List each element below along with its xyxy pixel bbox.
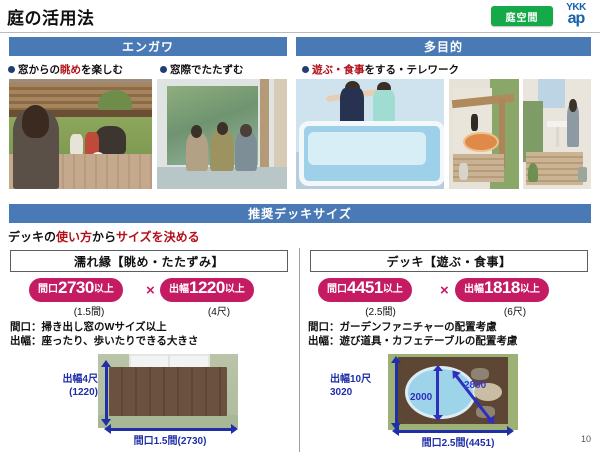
deck-section-lead: デッキの使い方からサイズを決める	[8, 228, 200, 245]
multiply-symbol-left: ×	[146, 282, 155, 299]
photo-layer-woman-hair	[22, 105, 49, 138]
lead-text-c: から	[92, 230, 116, 244]
photo-layer-table	[547, 121, 567, 128]
bullet-play-dine-telework: 遊ぶ・食事をする・テレワーク	[302, 62, 459, 77]
illustration-layer-chair-one	[471, 368, 489, 380]
pill-left-frontage-sub: (1.5間)	[29, 303, 149, 318]
photo-layer-tricycle	[95, 126, 126, 155]
dimension-label-projection-line1: 出幅4尺	[46, 374, 98, 387]
photo-layer-pot	[578, 167, 587, 182]
note-left-line1: 間口：掃き出し窓のWサイズ以上	[10, 320, 198, 334]
dimension-arrow-vertical	[395, 362, 398, 424]
bullet-linger-by-window: 窓際でたたずむ	[160, 62, 244, 77]
dimension-label-projection: 出幅10尺 3020	[330, 374, 388, 399]
bullet-text-highlight: 遊ぶ・食事	[312, 64, 365, 76]
dimension-arrow-pool	[436, 370, 439, 416]
pill-suffix: 以上	[383, 280, 403, 295]
pill-suffix: 以上	[225, 280, 245, 295]
bullet-dot-icon	[160, 66, 167, 73]
dimension-label-frontage: 間口2.5間(4451)	[398, 438, 518, 451]
illustration-layer-grass	[98, 415, 238, 428]
pill-suffix: 以上	[94, 280, 114, 295]
note-right-line1: 間口：ガーデンファニチャーの配置考慮	[308, 320, 517, 334]
section-bar-engawa: エンガワ	[9, 37, 287, 56]
pill-left-frontage: 間口2730以上	[29, 278, 123, 302]
diagram-deck: 出幅10尺 3020 間口2.5間(4451) 2000 2800	[306, 352, 591, 450]
dimension-label-projection-line2: 3020	[330, 387, 388, 400]
bullet-text-c: を楽しむ	[81, 64, 123, 76]
photo-engawa-composition	[157, 79, 287, 189]
dimension-label-projection-line2: (1220)	[46, 387, 98, 400]
section-bar-recommended-deck-size: 推奨デッキサイズ	[9, 204, 591, 223]
bullet-text-highlight: 眺め	[60, 64, 81, 76]
dimension-label-pool: 2000	[410, 392, 432, 405]
bullet-dot-icon	[8, 66, 15, 73]
photo-engawa-seating	[157, 79, 287, 189]
lead-text-highlight-size: サイズを決める	[116, 230, 200, 244]
photo-garden-composition	[9, 79, 152, 189]
note-left-line2: 出幅：座ったり、歩いたりできる大きさ	[10, 334, 198, 348]
column-divider	[299, 248, 300, 452]
ykk-ap-logo: YKK ap	[557, 3, 595, 27]
note-right: 間口：ガーデンファニチャーの配置考慮 出幅：遊び道具・カフェテーブルの配置考慮	[308, 320, 517, 348]
bullet-text-a: 窓からの	[18, 64, 60, 76]
note-right-line2: 出幅：遊び道具・カフェテーブルの配置考慮	[308, 334, 517, 348]
status-badge-niwakukan: 庭空間	[491, 6, 553, 26]
pill-right-frontage-sub: (2.5間)	[318, 303, 443, 318]
photo-layer-head-three	[240, 124, 252, 137]
diagram-nureen: 出幅4尺 (1220) 間口1.5間(2730)	[10, 352, 295, 450]
logo-text-ap: ap	[557, 12, 595, 27]
slide-root: 庭の活用法 庭空間 YKK ap エンガワ 多目的 窓からの眺めを楽しむ 窓際で…	[0, 0, 600, 452]
photo-deck-telework	[523, 79, 591, 189]
dimension-arrow-horizontal	[110, 428, 232, 431]
photo-deck-pergola	[449, 79, 519, 189]
dimension-arrow-vertical	[105, 366, 108, 420]
photo-layer-dog	[459, 163, 468, 181]
photo-pergola-composition	[449, 79, 519, 189]
bullet-dot-icon	[302, 66, 309, 73]
pill-suffix: 以上	[520, 280, 540, 295]
photo-garden-view	[9, 79, 152, 189]
pill-label: 間口	[38, 280, 58, 295]
lead-text-a: デッキの	[8, 230, 56, 244]
illustration-layer-deck	[109, 367, 227, 416]
photo-layer-table-leg	[556, 127, 559, 147]
dimension-label-table: 2800	[464, 380, 486, 393]
box-title-deck: デッキ【遊ぶ・食事】	[310, 250, 588, 272]
diagram-left-illustration	[98, 354, 238, 428]
multiply-symbol-right: ×	[440, 282, 449, 299]
pill-left-projection: 出幅1220以上	[160, 278, 254, 302]
dimension-label-frontage: 間口1.5間(2730)	[110, 436, 230, 449]
pill-right-frontage: 間口4451以上	[318, 278, 412, 302]
photo-layer-water	[308, 132, 426, 165]
photo-layer-plant	[528, 163, 538, 183]
pill-value: 1818	[484, 278, 520, 298]
bullet-text-b: をする・テレワーク	[365, 64, 460, 76]
page-title: 庭の活用法	[7, 4, 95, 29]
pill-value: 4451	[347, 278, 383, 298]
pill-right-projection: 出幅1818以上	[455, 278, 549, 302]
dimension-label-projection-line1: 出幅10尺	[330, 374, 388, 387]
photo-table-composition	[523, 79, 591, 189]
lead-text-highlight-usage: 使い方	[56, 230, 92, 244]
section-bar-multipurpose: 多目的	[296, 37, 591, 56]
box-title-nureen: 濡れ縁【眺め・たたずみ】	[10, 250, 288, 272]
pill-right-projection-sub: (6尺)	[455, 303, 575, 318]
pill-label: 出幅	[169, 280, 189, 295]
slide-header: 庭の活用法 庭空間 YKK ap	[0, 0, 600, 33]
pill-label: 出幅	[464, 280, 484, 295]
dimension-arrow-horizontal	[398, 430, 508, 433]
photo-pool-composition	[296, 79, 444, 189]
dimension-label-projection: 出幅4尺 (1220)	[46, 374, 98, 399]
page-number: 10	[581, 434, 591, 444]
photo-layer-cat	[471, 114, 478, 131]
bullet-view-enjoyment: 窓からの眺めを楽しむ	[8, 62, 123, 77]
pill-value: 1220	[189, 278, 225, 298]
diagram-right-illustration	[388, 354, 518, 430]
pill-label: 間口	[327, 280, 347, 295]
pill-left-projection-sub: (4尺)	[160, 303, 278, 318]
photo-layer-person-head	[569, 99, 576, 112]
bullet-text: 窓際でたたずむ	[170, 64, 244, 76]
photo-children-pool	[296, 79, 444, 189]
note-left: 間口：掃き出し窓のWサイズ以上 出幅：座ったり、歩いたりできる大きさ	[10, 320, 198, 348]
pill-value: 2730	[58, 278, 94, 298]
